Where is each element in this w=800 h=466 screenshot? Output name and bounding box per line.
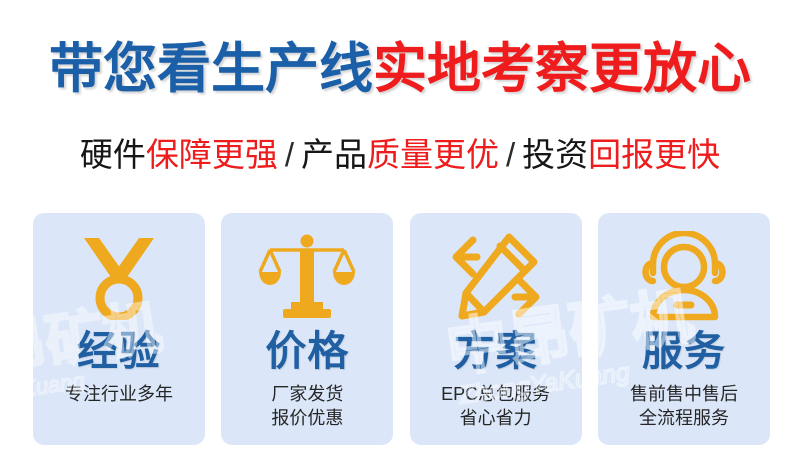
card-description: EPC总包服务 省心省力 — [441, 382, 550, 430]
card-title: 方案 — [454, 327, 538, 375]
card-title: 服务 — [642, 327, 726, 375]
feature-card-experience[interactable]: 经验 专注行业多年 — [33, 213, 205, 445]
feature-card-price[interactable]: 价格 厂家发货 报价优惠 — [221, 213, 393, 445]
card-description-line: 厂家发货 — [271, 382, 343, 406]
pencil-design-icon — [446, 231, 546, 323]
balance-scale-icon — [258, 231, 356, 323]
subtitle-separator-1: / — [278, 136, 301, 173]
card-description-line: EPC总包服务 — [441, 382, 550, 406]
card-description: 售前售中售后 全流程服务 — [630, 382, 738, 430]
subtitle-segment-6: 回报更快 — [588, 136, 720, 173]
card-description-line: 报价优惠 — [271, 406, 343, 430]
card-title: 价格 — [265, 327, 349, 375]
card-title: 经验 — [77, 327, 161, 375]
feature-card-service[interactable]: 服务 售前售中售后 全流程服务 — [598, 213, 770, 445]
card-description-line: 售前售中售后 — [630, 382, 738, 406]
subtitle: 硬件保障更强/产品质量更优/投资回报更快 — [0, 132, 800, 178]
headset-support-icon — [636, 231, 732, 323]
subtitle-segment-2: 保障更强 — [146, 136, 278, 173]
card-description-line: 专注行业多年 — [65, 382, 173, 406]
headline-blue-text: 带您看生产线 — [49, 39, 373, 99]
card-description: 专注行业多年 — [65, 382, 173, 406]
subtitle-segment-4: 质量更优 — [367, 136, 499, 173]
subtitle-segment-1: 硬件 — [80, 136, 146, 173]
medal-icon — [82, 231, 156, 323]
headline: 带您看生产线实地考察更放心 — [0, 36, 800, 102]
feature-card-solution[interactable]: 方案 EPC总包服务 省心省力 — [410, 213, 582, 445]
card-description-line: 省心省力 — [441, 406, 550, 430]
feature-card-row: 经验 专注行业多年 — [33, 213, 770, 445]
promo-banner: 带您看生产线实地考察更放心 硬件保障更强/产品质量更优/投资回报更快 经验 专注… — [0, 0, 800, 466]
subtitle-separator-2: / — [499, 136, 522, 173]
card-description-line: 全流程服务 — [630, 406, 738, 430]
card-description: 厂家发货 报价优惠 — [271, 382, 343, 430]
subtitle-segment-5: 投资 — [522, 136, 588, 173]
subtitle-segment-3: 产品 — [301, 136, 367, 173]
headline-red-text: 实地考察更放心 — [373, 39, 751, 99]
